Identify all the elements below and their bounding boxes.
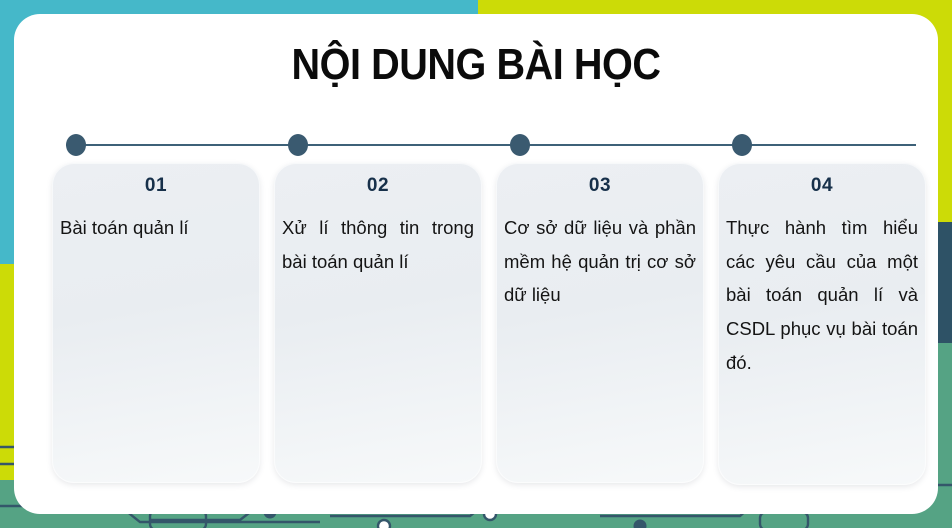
card-text-1: Bài toán quản lí <box>60 211 252 245</box>
content-card-3[interactable]: 03 Cơ sở dữ liệu và phần mềm hệ quản trị… <box>496 163 704 483</box>
card-number-3: 03 <box>496 175 704 197</box>
card-number-4: 04 <box>718 175 926 197</box>
card-number-2: 02 <box>274 175 482 197</box>
content-card-list: 01 Bài toán quản lí 02 Xử lí thông tin t… <box>0 0 952 528</box>
card-text-3: Cơ sở dữ liệu và phần mềm hệ quản trị cơ… <box>504 211 696 312</box>
card-text-2: Xử lí thông tin trong bài toán quản lí <box>282 211 474 278</box>
card-number-1: 01 <box>52 175 260 197</box>
content-card-4[interactable]: 04 Thực hành tìm hiểu các yêu cầu của mộ… <box>718 163 926 485</box>
content-card-2[interactable]: 02 Xử lí thông tin trong bài toán quản l… <box>274 163 482 483</box>
slide-canvas: NỘI DUNG BÀI HỌC 01 Bài toán quản lí 02 … <box>0 0 952 528</box>
content-card-1[interactable]: 01 Bài toán quản lí <box>52 163 260 483</box>
card-text-4: Thực hành tìm hiểu các yêu cầu của một b… <box>726 211 918 379</box>
